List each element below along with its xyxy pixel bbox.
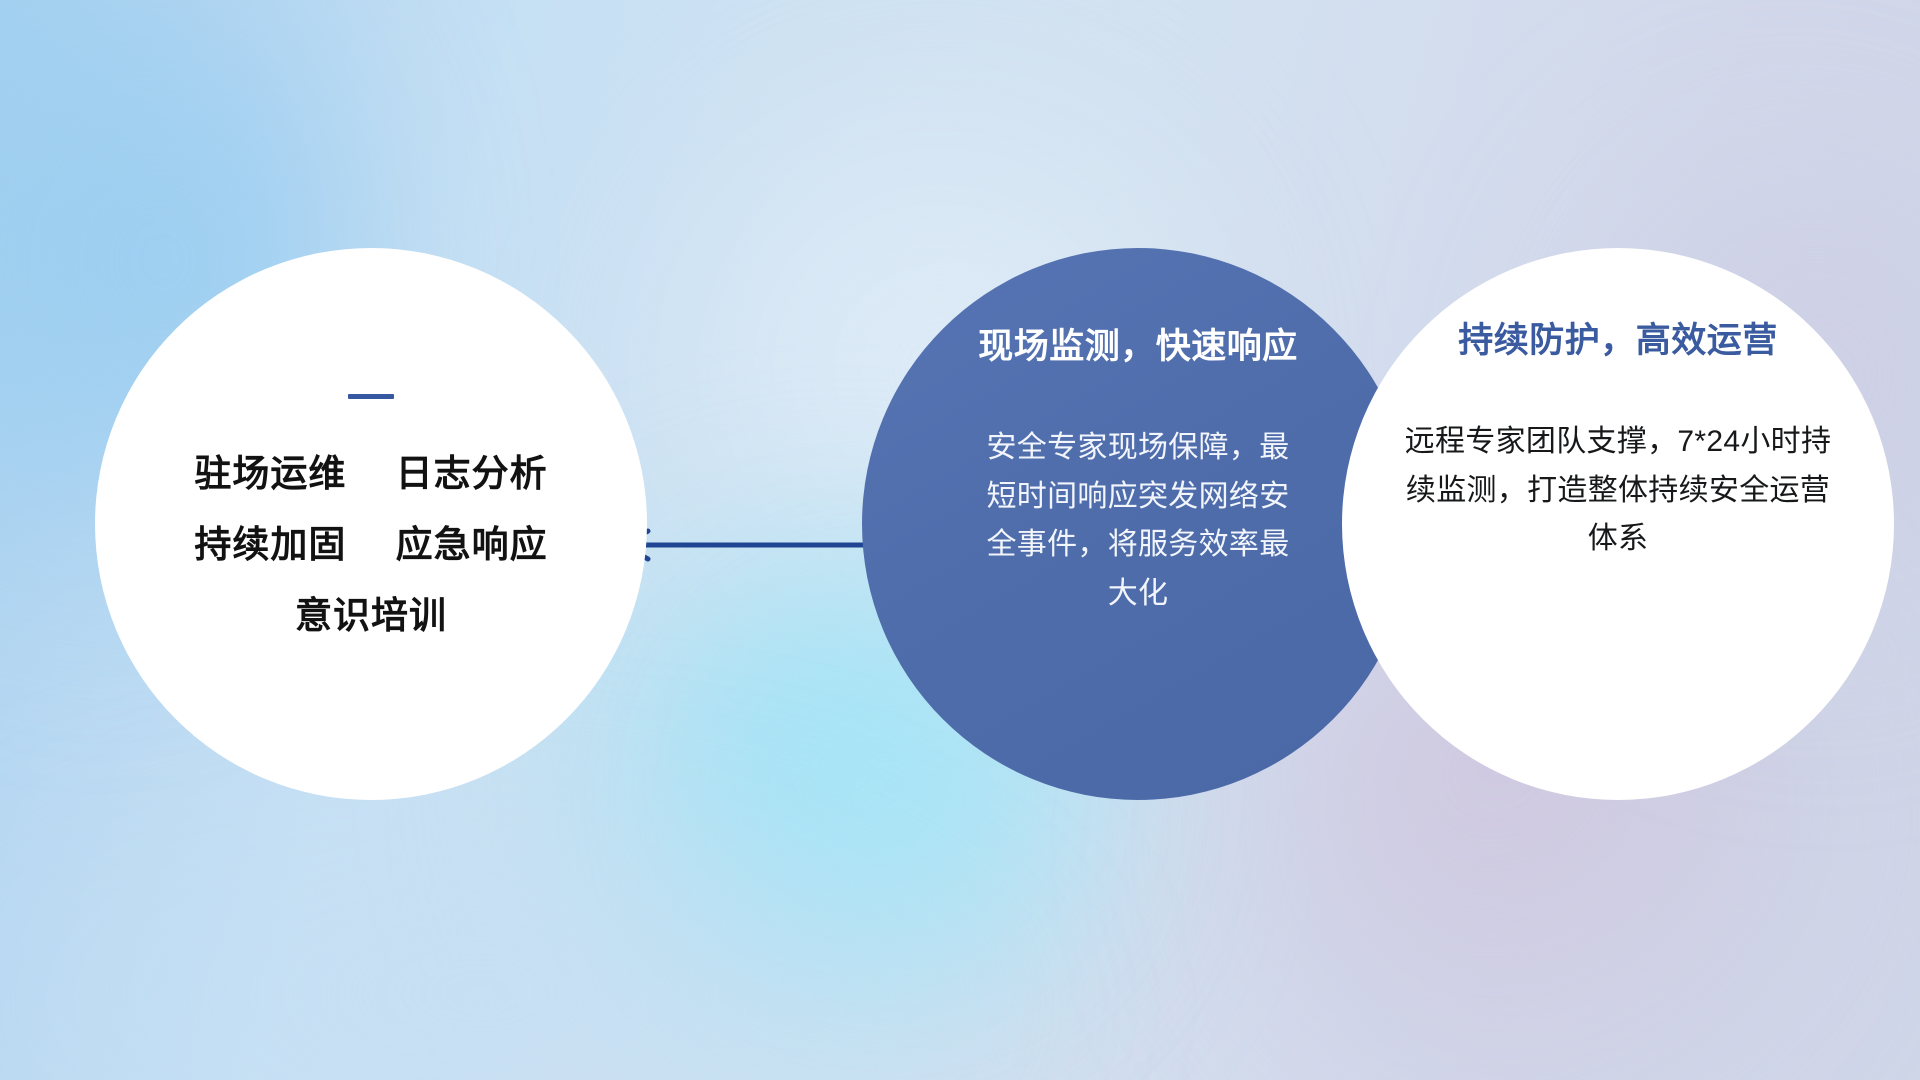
list-item: 持续加固 应急响应 bbox=[194, 526, 547, 563]
onsite-monitoring-circle: 现场监测，快速响应 安全专家现场保障，最短时间响应突发网络安全事件，将服务效率最… bbox=[862, 248, 1414, 800]
list-item: 意识培训 bbox=[194, 597, 547, 634]
list-item: 驻场运维 日志分析 bbox=[194, 455, 547, 492]
continuous-protection-body: 远程专家团队支撑，7*24小时持续监测，打造整体持续安全运营体系 bbox=[1403, 418, 1833, 564]
onsite-monitoring-body: 安全专家现场保障，最短时间响应突发网络安全事件，将服务效率最大化 bbox=[973, 424, 1303, 618]
infographic-canvas: 驻场运维 日志分析 持续加固 应急响应 意识培训 现场监测，快速响应 安全专家现… bbox=[0, 0, 1920, 1080]
services-circle: 驻场运维 日志分析 持续加固 应急响应 意识培训 bbox=[95, 248, 647, 800]
dash-divider-icon bbox=[348, 394, 394, 399]
onsite-monitoring-title: 现场监测，快速响应 bbox=[978, 326, 1298, 368]
continuous-protection-title: 持续防护，高效运营 bbox=[1458, 320, 1778, 362]
continuous-protection-circle: 持续防护，高效运营 远程专家团队支撑，7*24小时持续监测，打造整体持续安全运营… bbox=[1342, 248, 1894, 800]
services-list: 驻场运维 日志分析 持续加固 应急响应 意识培训 bbox=[194, 455, 547, 634]
